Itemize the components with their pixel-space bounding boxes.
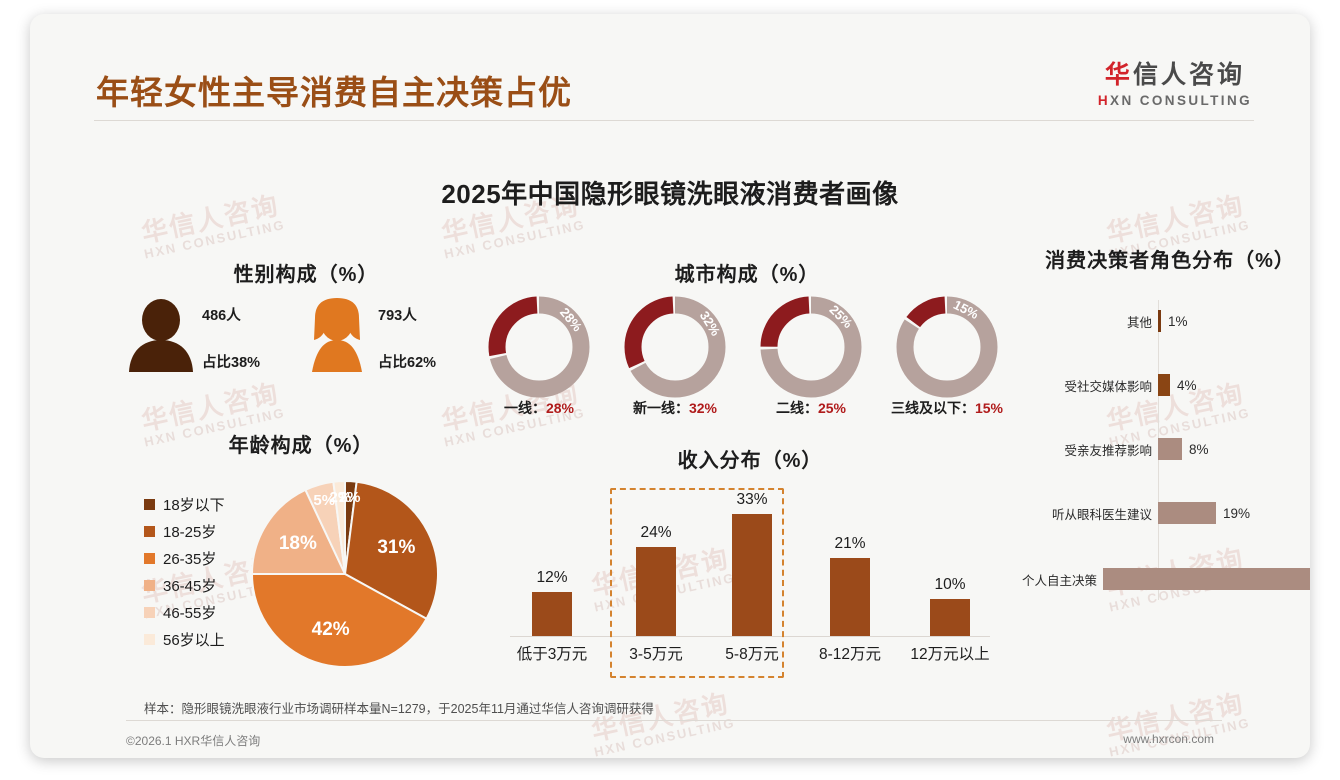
age-legend-item[interactable]: 18岁以下 — [144, 491, 225, 518]
watermark-en: HXN CONSULTING — [593, 716, 737, 758]
income-highlight-box — [610, 488, 784, 678]
donut-caption-value: 15% — [975, 400, 1003, 416]
role-bar[interactable] — [1158, 310, 1161, 332]
gender-title: 性别构成（%） — [126, 258, 486, 287]
income-category-label: 12万元以上 — [895, 642, 1005, 664]
income-bar-column: 12% — [504, 569, 600, 636]
male-silhouette-icon — [126, 298, 196, 372]
logo-cn-red: 华 — [1105, 61, 1133, 89]
city-donut-三线及以下: 15%三线及以下：15% — [894, 294, 1000, 400]
logo-en-rest: XN CONSULTING — [1110, 93, 1252, 108]
role-row: 受亲友推荐影响8% — [1022, 436, 1310, 462]
gender-stats: 486人占比38% — [202, 304, 260, 372]
role-bar[interactable] — [1158, 502, 1216, 524]
legend-swatch-icon — [144, 607, 155, 618]
income-category-label: 8-12万元 — [795, 642, 905, 664]
role-row: 其他1% — [1022, 308, 1310, 334]
role-value: 8% — [1189, 442, 1209, 457]
city-donut-二线: 25%二线：25% — [758, 294, 864, 400]
watermark-en: HXN CONSULTING — [143, 218, 287, 261]
income-bar-value: 12% — [504, 569, 600, 587]
city-title: 城市构成（%） — [474, 258, 1020, 287]
gender-composition-section: 性别构成（%） 486人占比38%793人占比62% — [126, 258, 486, 388]
watermark: 华信人咨询HXN CONSULTING — [1102, 689, 1251, 758]
gender-stats: 793人占比62% — [378, 304, 436, 372]
role-label: 其他 — [1022, 312, 1158, 331]
brand-logo: 华信人咨询 HXN CONSULTING — [1098, 62, 1252, 108]
gender-count: 793人 — [378, 304, 436, 325]
legend-label: 26-35岁 — [163, 548, 216, 569]
logo-cn: 华信人咨询 — [1098, 62, 1252, 90]
income-title: 收入分布（%） — [490, 444, 1010, 473]
legend-label: 46-55岁 — [163, 602, 216, 623]
female-silhouette-icon — [302, 298, 372, 372]
decision-role-section: 消费决策者角色分布（%） 其他1%受社交媒体影响4%受亲友推荐影响8%听从眼科医… — [1022, 244, 1310, 614]
donut-caption: 一线：28% — [480, 398, 598, 418]
legend-swatch-icon — [144, 499, 155, 510]
gender-female: 793人占比62% — [302, 298, 372, 372]
age-legend: 18岁以下18-25岁26-35岁36-45岁46-55岁56岁以上 — [144, 491, 225, 653]
donut-caption-name: 二线： — [776, 400, 818, 416]
income-bar[interactable] — [930, 599, 970, 636]
donut-chart — [622, 294, 728, 400]
city-composition-section: 城市构成（%） 28%一线：28%32%新一线：32%25%二线：25%15%三… — [474, 258, 1020, 398]
role-row: 听从眼科医生建议19% — [1022, 500, 1310, 526]
donut-caption-name: 一线： — [504, 400, 546, 416]
donut-caption-name: 新一线： — [633, 400, 689, 416]
chart-main-title: 2025年中国隐形眼镜洗眼液消费者画像 — [30, 174, 1310, 211]
logo-en-red: H — [1098, 93, 1110, 108]
city-donut-新一线: 32%新一线：32% — [622, 294, 728, 400]
age-legend-item[interactable]: 46-55岁 — [144, 599, 225, 626]
legend-label: 56岁以上 — [163, 629, 225, 650]
role-row: 受社交媒体影响4% — [1022, 372, 1310, 398]
age-legend-item[interactable]: 18-25岁 — [144, 518, 225, 545]
role-label: 个人自主决策 — [1022, 570, 1103, 589]
income-bar[interactable] — [830, 558, 870, 636]
donut-caption: 二线：25% — [752, 398, 870, 418]
role-value: 4% — [1177, 378, 1197, 393]
donut-caption: 新一线：32% — [616, 398, 734, 418]
logo-en: HXN CONSULTING — [1098, 93, 1252, 108]
watermark-en: HXN CONSULTING — [443, 218, 587, 261]
income-bar-value: 10% — [902, 576, 998, 594]
income-bar-column: 21% — [802, 535, 898, 636]
gender-share: 占比62% — [378, 351, 436, 372]
age-legend-item[interactable]: 56岁以上 — [144, 626, 225, 653]
slide-header: 年轻女性主导消费自主决策占优 华信人咨询 HXN CONSULTING — [30, 14, 1310, 118]
legend-swatch-icon — [144, 634, 155, 645]
legend-swatch-icon — [144, 553, 155, 564]
pie-chart — [250, 479, 440, 669]
legend-swatch-icon — [144, 526, 155, 537]
donut-caption: 三线及以下：15% — [888, 398, 1006, 418]
donut-chart — [486, 294, 592, 400]
roles-title: 消费决策者角色分布（%） — [1022, 244, 1310, 273]
legend-swatch-icon — [144, 580, 155, 591]
income-category-label: 低于3万元 — [497, 642, 607, 664]
income-distribution-section: 收入分布（%） 12%24%33%21%10% 低于3万元3-5万元5-8万元8… — [490, 444, 1010, 674]
donut-caption-name: 三线及以下： — [891, 400, 975, 416]
age-legend-item[interactable]: 36-45岁 — [144, 572, 225, 599]
role-row: 个人自主决策68% — [1022, 566, 1310, 592]
header-divider — [94, 120, 1254, 121]
legend-label: 18-25岁 — [163, 521, 216, 542]
role-value: 1% — [1168, 314, 1188, 329]
website-url[interactable]: www.hxrcon.com — [1123, 732, 1214, 746]
sample-note: 样本：隐形眼镜洗眼液行业市场调研样本量N=1279，于2025年11月通过华信人… — [144, 698, 654, 717]
logo-cn-rest: 信人咨询 — [1133, 61, 1245, 89]
income-bar[interactable] — [532, 592, 572, 636]
footer-divider — [126, 720, 1222, 721]
role-label: 受亲友推荐影响 — [1022, 440, 1158, 459]
page-title: 年轻女性主导消费自主决策占优 — [96, 66, 572, 114]
slide-canvas: 华信人咨询HXN CONSULTING华信人咨询HXN CONSULTING华信… — [30, 14, 1310, 758]
age-title: 年龄构成（%） — [126, 429, 476, 458]
role-label: 听从眼科医生建议 — [1022, 504, 1158, 523]
age-pie-chart: 2%31%42%18%5%2% — [250, 479, 440, 669]
donut-chart — [894, 294, 1000, 400]
donut-caption-value: 32% — [689, 400, 717, 416]
city-donut-一线: 28%一线：28% — [486, 294, 592, 400]
donut-caption-value: 28% — [546, 400, 574, 416]
legend-label: 18岁以下 — [163, 494, 225, 515]
role-value: 19% — [1223, 506, 1250, 521]
role-bar[interactable] — [1158, 374, 1170, 396]
legend-label: 36-45岁 — [163, 575, 216, 596]
income-bar-value: 21% — [802, 535, 898, 553]
gender-male: 486人占比38% — [126, 298, 196, 372]
copyright-text: ©2026.1 HXR华信人咨询 — [126, 732, 260, 749]
gender-share: 占比38% — [202, 351, 260, 372]
age-composition-section: 年龄构成（%） 18岁以下18-25岁26-35岁36-45岁46-55岁56岁… — [126, 429, 476, 669]
income-bar-column: 10% — [902, 576, 998, 636]
role-label: 受社交媒体影响 — [1022, 376, 1158, 395]
donut-caption-value: 25% — [818, 400, 846, 416]
role-bar[interactable] — [1103, 568, 1310, 590]
role-bar[interactable] — [1158, 438, 1182, 460]
gender-count: 486人 — [202, 304, 260, 325]
age-legend-item[interactable]: 26-35岁 — [144, 545, 225, 572]
donut-chart — [758, 294, 864, 400]
